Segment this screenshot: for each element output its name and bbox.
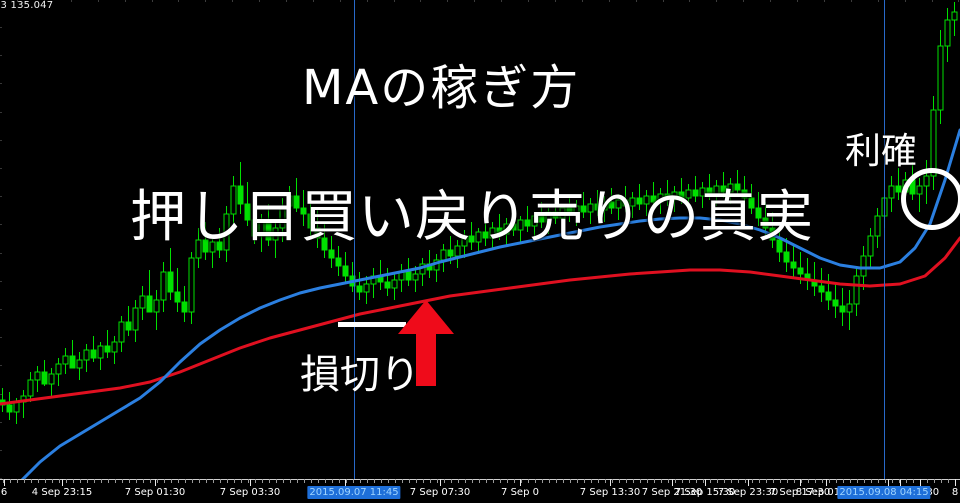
axis-tick-major (900, 479, 901, 486)
axis-tick-minor (346, 479, 347, 483)
axis-tick-major (440, 479, 441, 486)
axis-tick-major (520, 479, 521, 486)
axis-tick-major (748, 479, 749, 486)
axis-tick-minor (549, 479, 550, 483)
price-readout: 03 135.047 (0, 0, 53, 11)
axis-tick-minor (885, 479, 886, 483)
axis-tick-major (4, 479, 5, 486)
axis-tick-major (345, 479, 346, 486)
axis-tick-minor (318, 479, 319, 483)
axis-tick-minor (73, 479, 74, 483)
axis-tick-minor (738, 479, 739, 483)
axis-tick-minor (822, 479, 823, 483)
axis-tick-minor (514, 479, 515, 483)
axis-tick-minor (94, 479, 95, 483)
axis-tick-minor (248, 479, 249, 483)
axis-tick-minor (108, 479, 109, 483)
axis-tick-minor (612, 479, 613, 483)
axis-tick-minor (136, 479, 137, 483)
axis-tick-label: 7 Sep 21:30 (642, 487, 702, 498)
axis-tick-minor (661, 479, 662, 483)
axis-tick-minor (626, 479, 627, 483)
marker-line (884, 0, 885, 479)
title-main: MAの稼ぎ方 (302, 48, 580, 118)
axis-tick-minor (808, 479, 809, 483)
axis-tick-minor (395, 479, 396, 483)
axis-tick-major (800, 479, 801, 486)
axis-tick-minor (374, 479, 375, 483)
axis-tick-minor (570, 479, 571, 483)
axis-tick-minor (122, 479, 123, 483)
axis-tick-minor (528, 479, 529, 483)
axis-tick-minor (157, 479, 158, 483)
axis-tick-minor (332, 479, 333, 483)
axis-tick-minor (31, 479, 32, 483)
axis-tick-minor (241, 479, 242, 483)
axis-tick-minor (927, 479, 928, 483)
axis-tick-minor (934, 479, 935, 483)
chart-screenshot: 03 135.047 MAの稼ぎ方 押し目買い戻り売りの真実 損切り 利確 64… (0, 0, 960, 503)
ma-slow-line (0, 238, 960, 404)
axis-tick-minor (871, 479, 872, 483)
axis-tick-minor (409, 479, 410, 483)
axis-tick-minor (633, 479, 634, 483)
axis-tick-minor (10, 479, 11, 483)
axis-tick-minor (563, 479, 564, 483)
axis-tick-minor (227, 479, 228, 483)
axis-tick-minor (521, 479, 522, 483)
axis-tick-minor (787, 479, 788, 483)
axis-tick-minor (577, 479, 578, 483)
axis-tick-minor (542, 479, 543, 483)
axis-tick-major (920, 479, 921, 486)
axis-tick-minor (829, 479, 830, 483)
axis-tick-minor (59, 479, 60, 483)
axis-tick-minor (171, 479, 172, 483)
axis-tick-minor (353, 479, 354, 483)
axis-tick-minor (710, 479, 711, 483)
axis-tick-minor (388, 479, 389, 483)
axis-tick-minor (857, 479, 858, 483)
axis-tick-minor (423, 479, 424, 483)
axis-tick-minor (843, 479, 844, 483)
axis-tick-minor (696, 479, 697, 483)
axis-tick-minor (731, 479, 732, 483)
axis-tick-label: 7 Sep 01:30 (125, 487, 185, 498)
axis-tick-minor (87, 479, 88, 483)
take-profit-circle (901, 168, 960, 230)
axis-tick-major (62, 479, 63, 486)
red-up-arrow-icon (396, 300, 456, 386)
axis-tick-minor (38, 479, 39, 483)
axis-tick-minor (52, 479, 53, 483)
axis-tick-minor (689, 479, 690, 483)
axis-tick-minor (178, 479, 179, 483)
axis-tick-minor (892, 479, 893, 483)
axis-tick-minor (45, 479, 46, 483)
axis-tick-minor (472, 479, 473, 483)
axis-tick-minor (752, 479, 753, 483)
axis-tick-minor (80, 479, 81, 483)
axis-tick-minor (682, 479, 683, 483)
axis-tick-minor (584, 479, 585, 483)
axis-tick-minor (17, 479, 18, 483)
axis-tick-label: 4 Sep 23:15 (32, 487, 92, 498)
axis-tick-minor (290, 479, 291, 483)
axis-tick-minor (906, 479, 907, 483)
axis-tick-minor (654, 479, 655, 483)
axis-tick-major (826, 479, 827, 486)
axis-tick-minor (724, 479, 725, 483)
title-subtitle: 押し目買い戻り売りの真実 (130, 172, 814, 253)
axis-tick-minor (675, 479, 676, 483)
axis-tick-minor (717, 479, 718, 483)
axis-tick-minor (24, 479, 25, 483)
axis-tick-minor (129, 479, 130, 483)
axis-tick-minor (297, 479, 298, 483)
axis-tick-minor (381, 479, 382, 483)
axis-tick-major (155, 479, 156, 486)
axis-tick-label: 7 Sep 23:30 (718, 487, 778, 498)
axis-tick-minor (745, 479, 746, 483)
axis-tick-minor (794, 479, 795, 483)
axis-tick-minor (262, 479, 263, 483)
axis-tick-minor (416, 479, 417, 483)
axis-tick-minor (430, 479, 431, 483)
axis-tick-label: 7 Sep 0 (501, 487, 539, 498)
axis-tick-minor (864, 479, 865, 483)
axis-tick-minor (605, 479, 606, 483)
axis-tick-minor (199, 479, 200, 483)
axis-tick-minor (836, 479, 837, 483)
axis-tick-minor (143, 479, 144, 483)
axis-tick-minor (101, 479, 102, 483)
axis-tick-minor (591, 479, 592, 483)
axis-tick-minor (815, 479, 816, 483)
axis-tick-minor (458, 479, 459, 483)
axis-tick-minor (115, 479, 116, 483)
axis-tick-minor (150, 479, 151, 483)
axis-tick-minor (640, 479, 641, 483)
axis-tick-minor (759, 479, 760, 483)
axis-tick-minor (255, 479, 256, 483)
time-axis[interactable]: 64 Sep 23:157 Sep 01:307 Sep 03:307 Sep … (0, 479, 960, 503)
axis-tick-major (705, 479, 706, 486)
axis-tick-minor (780, 479, 781, 483)
axis-tick-minor (220, 479, 221, 483)
axis-tick-minor (325, 479, 326, 483)
selected-time-label[interactable]: 2015.09.08 04:15 (837, 486, 930, 499)
axis-tick-minor (164, 479, 165, 483)
axis-tick-minor (234, 479, 235, 483)
axis-tick-minor (801, 479, 802, 483)
axis-tick-minor (535, 479, 536, 483)
axis-tick-minor (766, 479, 767, 483)
axis-tick-minor (192, 479, 193, 483)
axis-tick-minor (66, 479, 67, 483)
axis-tick-minor (486, 479, 487, 483)
axis-tick-minor (479, 479, 480, 483)
axis-tick-minor (703, 479, 704, 483)
axis-tick-major (610, 479, 611, 486)
axis-tick-minor (185, 479, 186, 483)
axis-tick-minor (773, 479, 774, 483)
axis-tick-minor (941, 479, 942, 483)
axis-tick-major (672, 479, 673, 486)
axis-tick-minor (647, 479, 648, 483)
axis-tick-minor (507, 479, 508, 483)
axis-tick-minor (948, 479, 949, 483)
axis-tick-major (888, 479, 889, 486)
axis-tick-minor (339, 479, 340, 483)
axis-tick-minor (556, 479, 557, 483)
take-profit-label: 利確 (845, 122, 917, 174)
axis-tick-minor (668, 479, 669, 483)
axis-rule (0, 479, 960, 480)
axis-tick-minor (493, 479, 494, 483)
axis-tick-major (250, 479, 251, 486)
axis-tick-minor (451, 479, 452, 483)
axis-tick-minor (269, 479, 270, 483)
axis-tick-minor (206, 479, 207, 483)
axis-tick-label: 8 (952, 487, 958, 498)
axis-tick-label: 7 Sep 07:30 (410, 487, 470, 498)
axis-tick-label: 7 Sep 13:30 (580, 487, 640, 498)
axis-tick-minor (311, 479, 312, 483)
axis-tick-minor (276, 479, 277, 483)
axis-tick-minor (850, 479, 851, 483)
axis-tick-major (955, 479, 956, 486)
axis-tick-minor (213, 479, 214, 483)
axis-tick-minor (437, 479, 438, 483)
axis-tick-minor (402, 479, 403, 483)
axis-tick-minor (465, 479, 466, 483)
axis-tick-label: 6 (1, 487, 7, 498)
axis-tick-minor (619, 479, 620, 483)
axis-tick-minor (367, 479, 368, 483)
selected-time-label[interactable]: 2015.09.07 11:45 (307, 486, 400, 499)
axis-tick-minor (500, 479, 501, 483)
axis-tick-minor (283, 479, 284, 483)
axis-tick-minor (444, 479, 445, 483)
axis-tick-minor (598, 479, 599, 483)
axis-tick-minor (360, 479, 361, 483)
axis-tick-label: 7 Sep 03:30 (220, 487, 280, 498)
axis-tick-minor (878, 479, 879, 483)
axis-tick-minor (304, 479, 305, 483)
axis-tick-minor (913, 479, 914, 483)
